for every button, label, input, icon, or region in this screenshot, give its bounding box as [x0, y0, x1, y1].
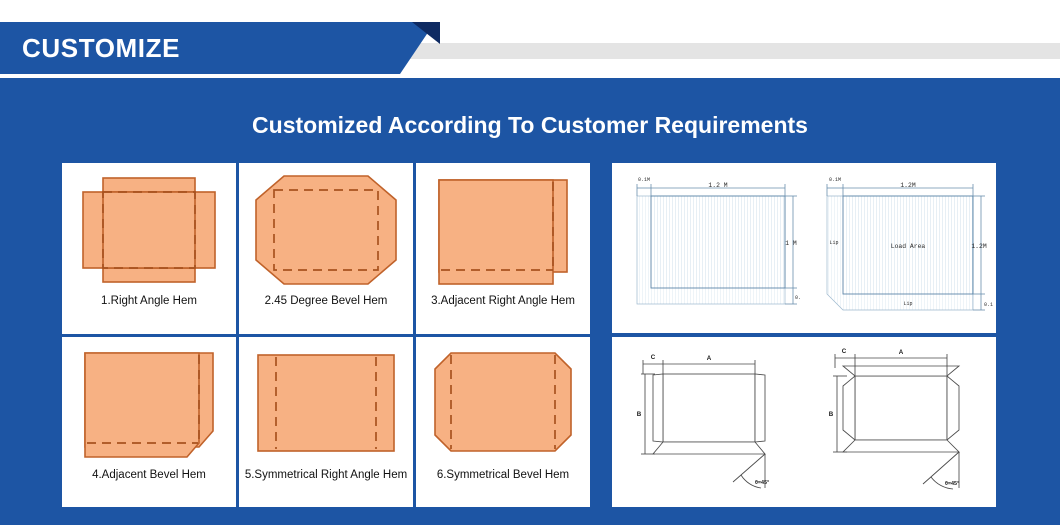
box-pattern-panel: θ=45° A C B — [612, 337, 996, 507]
hem-diagram-symmetrical-bevel-hem — [416, 341, 590, 466]
dim-b: B — [829, 411, 834, 418]
dim-b: B — [637, 411, 642, 418]
dim-top: 1.2 M — [708, 182, 727, 189]
cad-drawing-right: 1.2M 0.1M 1.2M 0.1M Load Area — [804, 163, 996, 333]
dim-c: C — [651, 354, 656, 361]
angle-label: θ=45° — [945, 481, 959, 487]
hem-card-caption: 4.Adjacent Bevel Hem — [88, 468, 210, 482]
hem-diagram-symmetrical-right-angle-hem — [239, 341, 413, 466]
dim-top-small: 0.1M — [638, 177, 650, 183]
dim-bottom-small: 0.1M — [984, 302, 993, 308]
hem-card-adjacent-bevel-hem[interactable]: 4.Adjacent Bevel Hem — [62, 337, 236, 508]
header-banner: CUSTOMIZE — [0, 22, 1060, 74]
hem-card-caption: 6.Symmetrical Bevel Hem — [433, 468, 573, 482]
box-pattern-right: θ=45° A C B — [804, 337, 996, 507]
dim-right: 1 M — [785, 240, 797, 247]
hem-card-caption: 5.Symmetrical Right Angle Hem — [241, 468, 411, 482]
hem-card-45-degree-bevel-hem[interactable]: 2.45 Degree Bevel Hem — [239, 163, 413, 334]
cad-drawing-left: 1.2 M 0.1M 1 M 0.1M — [612, 163, 804, 333]
dim-top-small: 0.1M — [829, 177, 841, 183]
banner-title: CUSTOMIZE — [22, 22, 180, 74]
dim-bottom-small: 0.1M — [795, 295, 801, 301]
hem-card-caption: 2.45 Degree Bevel Hem — [261, 294, 392, 308]
dim-c: C — [842, 348, 847, 355]
hem-diagram-45-degree-bevel-hem — [239, 167, 413, 292]
hem-type-grid: 1.Right Angle Hem 2.45 Degree Bevel Hem — [62, 163, 590, 507]
hem-card-adjacent-right-angle-hem[interactable]: 3.Adjacent Right Angle Hem — [416, 163, 590, 334]
page-title: Customized According To Customer Require… — [0, 112, 1060, 139]
load-area-dimension-panel: 1.2 M 0.1M 1 M 0.1M — [612, 163, 996, 333]
hem-card-caption: 3.Adjacent Right Angle Hem — [427, 294, 579, 308]
dim-a: A — [899, 349, 904, 356]
page-root: CUSTOMIZE Customized According To Custom… — [0, 0, 1060, 525]
dim-top: 1.2M — [900, 182, 916, 189]
hem-card-symmetrical-bevel-hem[interactable]: 6.Symmetrical Bevel Hem — [416, 337, 590, 508]
hem-card-caption: 1.Right Angle Hem — [97, 294, 201, 308]
box-pattern-left: θ=45° A C B — [612, 337, 804, 507]
dim-right: 1.2M — [971, 243, 987, 250]
hem-diagram-adjacent-right-angle-hem — [416, 167, 590, 292]
hem-card-symmetrical-right-angle-hem[interactable]: 5.Symmetrical Right Angle Hem — [239, 337, 413, 508]
hem-diagram-right-angle-hem — [62, 167, 236, 292]
label-lip-bottom: Lip — [903, 301, 912, 307]
hem-card-right-angle-hem[interactable]: 1.Right Angle Hem — [62, 163, 236, 334]
dim-a: A — [707, 355, 712, 362]
label-lip-left: Lip — [829, 240, 838, 246]
label-load-area: Load Area — [891, 243, 926, 250]
hem-diagram-adjacent-bevel-hem — [62, 341, 236, 466]
angle-label: θ=45° — [755, 480, 769, 486]
